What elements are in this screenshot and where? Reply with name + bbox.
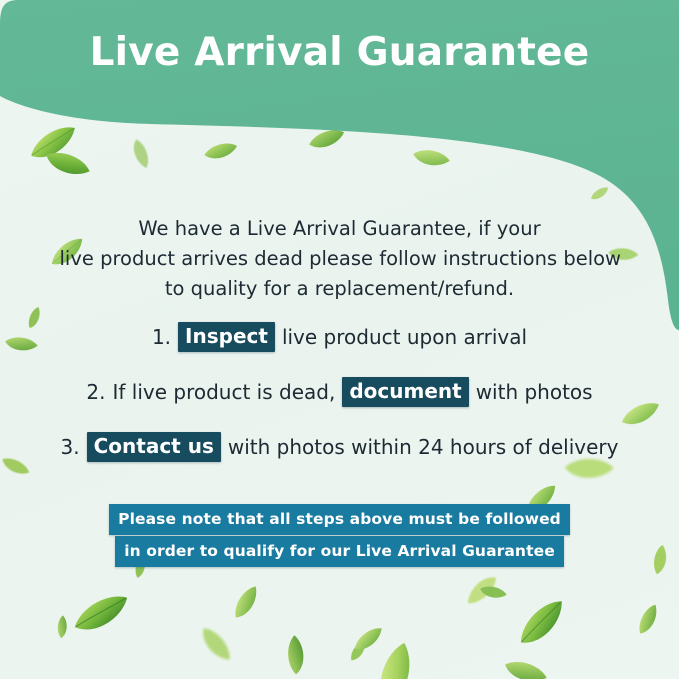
- steps-list: 1. Inspect live product upon arrival 2. …: [0, 320, 679, 485]
- step-text-before: If live product is dead,: [112, 375, 335, 409]
- live-arrival-guarantee-poster: Live Arrival Guarantee: [0, 0, 679, 679]
- step-text-after: with photos within 24 hours of delivery: [228, 430, 619, 464]
- step-number: 3.: [61, 430, 80, 464]
- note-banner-line-2-wrap: in order to qualify for our Live Arrival…: [0, 536, 679, 567]
- step-item-3: 3. Contact us with photos within 24 hour…: [0, 430, 679, 464]
- note-banner-line-2: in order to qualify for our Live Arrival…: [115, 536, 564, 567]
- poster-content: We have a Live Arrival Guarantee, if you…: [0, 0, 679, 679]
- step-highlight-inspect[interactable]: Inspect: [178, 322, 275, 352]
- intro-paragraph: We have a Live Arrival Guarantee, if you…: [60, 214, 620, 304]
- step-text-after: live product upon arrival: [282, 320, 527, 354]
- step-number: 1.: [152, 320, 171, 354]
- step-highlight-contact-us[interactable]: Contact us: [87, 432, 221, 462]
- step-text-after: with photos: [476, 375, 593, 409]
- intro-line-2: live product arrives dead please follow …: [60, 244, 620, 274]
- note-banner-line-1-wrap: Please note that all steps above must be…: [0, 504, 679, 535]
- intro-line-3: to quality for a replacement/refund.: [60, 274, 620, 304]
- note-banner-line-1: Please note that all steps above must be…: [109, 504, 570, 535]
- step-item-2: 2. If live product is dead, document wit…: [0, 375, 679, 409]
- step-item-1: 1. Inspect live product upon arrival: [0, 320, 679, 354]
- intro-line-1: We have a Live Arrival Guarantee, if you…: [60, 214, 620, 244]
- step-number: 2.: [86, 375, 105, 409]
- step-highlight-document[interactable]: document: [342, 377, 468, 407]
